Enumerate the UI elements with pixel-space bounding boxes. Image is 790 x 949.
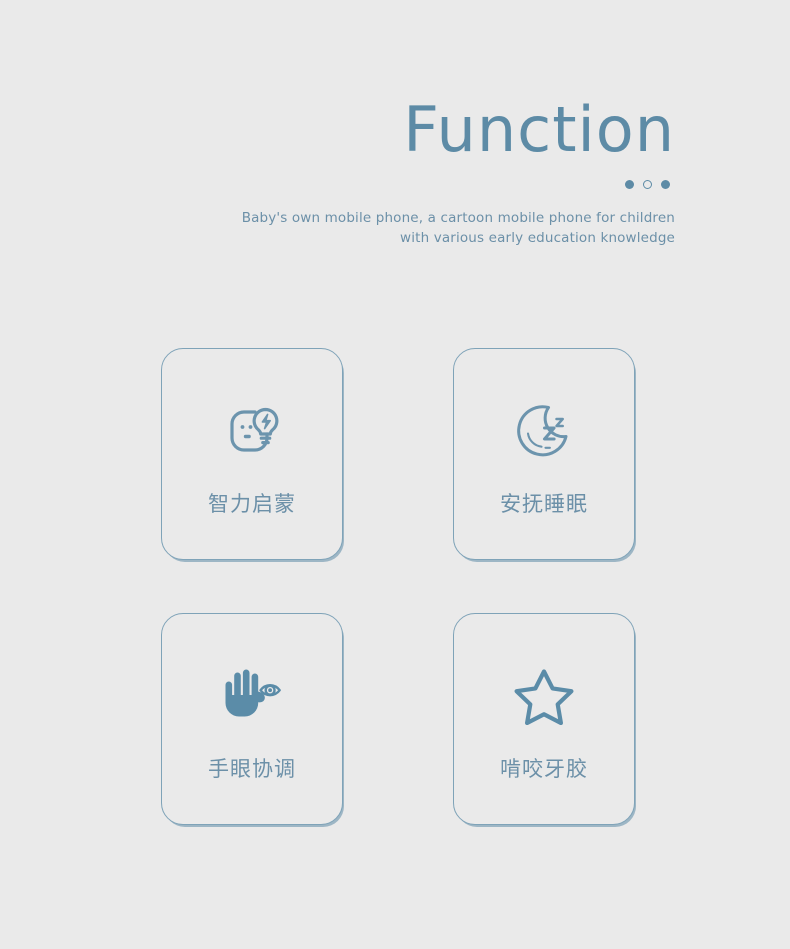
dot-indicator-2 <box>643 180 652 189</box>
feature-card-label: 啃咬牙胶 <box>500 757 588 781</box>
feature-card-label: 安抚睡眠 <box>500 492 588 516</box>
star-icon <box>514 663 574 729</box>
hand-eye-icon <box>220 663 284 729</box>
feature-card-label: 手眼协调 <box>208 757 296 781</box>
brain-lightbulb-icon <box>221 398 283 464</box>
page-title: Function <box>55 96 675 164</box>
feature-card-teether[interactable]: 啃咬牙胶 <box>453 613 635 825</box>
crescent-moon-sleep-icon <box>514 398 574 464</box>
dot-indicator-3 <box>661 180 670 189</box>
subtitle-text: Baby's own mobile phone, a cartoon mobil… <box>55 209 675 248</box>
feature-card-label: 智力启蒙 <box>208 492 296 516</box>
feature-card-coordination[interactable]: 手眼协调 <box>161 613 343 825</box>
function-feature-page: Function Baby's own mobile phone, a cart… <box>0 0 790 949</box>
feature-card-sleep[interactable]: 安抚睡眠 <box>453 348 635 560</box>
feature-card-grid: 智力启蒙 安抚睡眠 <box>161 348 635 825</box>
feature-card-intelligence[interactable]: 智力启蒙 <box>161 348 343 560</box>
dot-indicator-1 <box>625 180 634 189</box>
header-block: Function Baby's own mobile phone, a cart… <box>55 96 675 248</box>
dot-indicator-group <box>55 180 675 189</box>
